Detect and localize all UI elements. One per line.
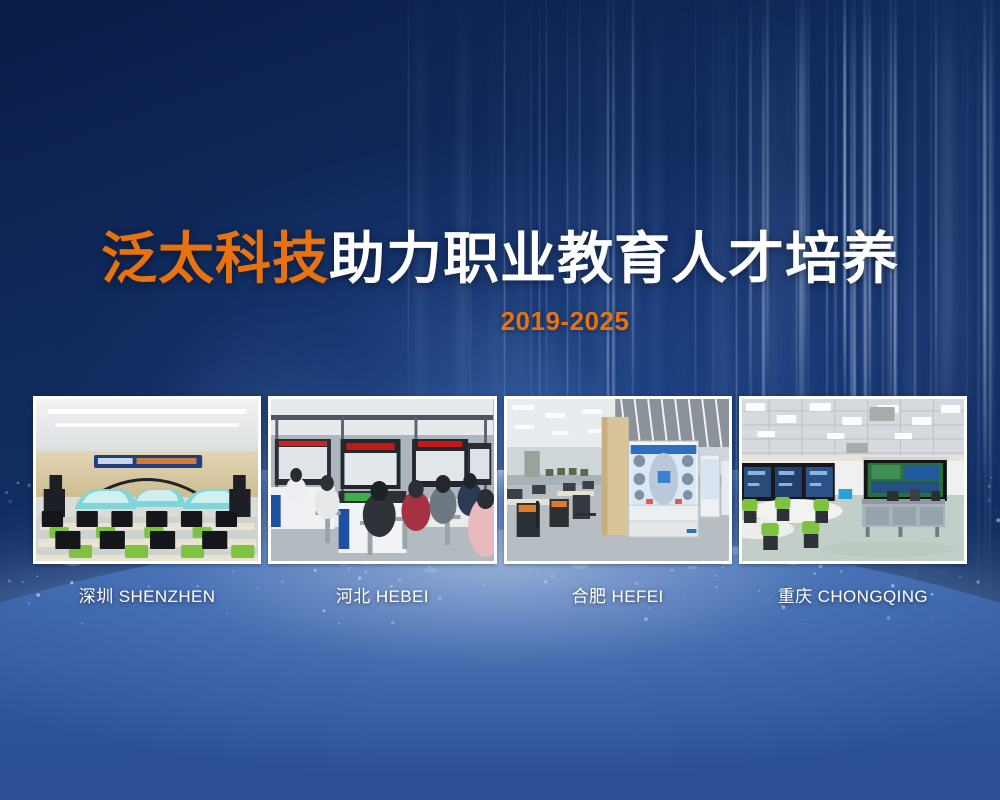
caption-hebei: 河北 HEBEI xyxy=(268,584,496,610)
photo-hefei xyxy=(507,399,729,561)
title-brand: 泛太科技 xyxy=(101,227,329,290)
globe-sphere xyxy=(0,530,1000,800)
banner-stage: 泛太科技助力职业教育人才培养 2019-2025 xyxy=(0,0,1000,800)
photo-captions: 深圳 SHENZHEN 河北 HEBEI 合肥 HEFEI 重庆 CHONGQI… xyxy=(33,584,967,610)
caption-shenzhen: 深圳 SHENZHEN xyxy=(33,584,261,610)
gallery-item-hebei[interactable] xyxy=(268,396,496,564)
year-range-text: 2019-2025 xyxy=(501,306,630,337)
photo-hebei xyxy=(271,399,493,561)
photo-gallery xyxy=(33,396,967,564)
caption-hefei: 合肥 HEFEI xyxy=(504,584,732,610)
photo-chongqing xyxy=(742,399,964,561)
caption-chongqing: 重庆 CHONGQING xyxy=(739,584,967,610)
gallery-item-chongqing[interactable] xyxy=(739,396,967,564)
page-title: 泛太科技助力职业教育人才培养 xyxy=(0,231,1000,287)
gallery-item-hefei[interactable] xyxy=(504,396,732,564)
title-rest: 助力职业教育人才培养 xyxy=(329,227,899,290)
photo-shenzhen xyxy=(36,399,258,561)
year-range-label: 2019-2025 xyxy=(0,306,1000,337)
gallery-item-shenzhen[interactable] xyxy=(33,396,261,564)
